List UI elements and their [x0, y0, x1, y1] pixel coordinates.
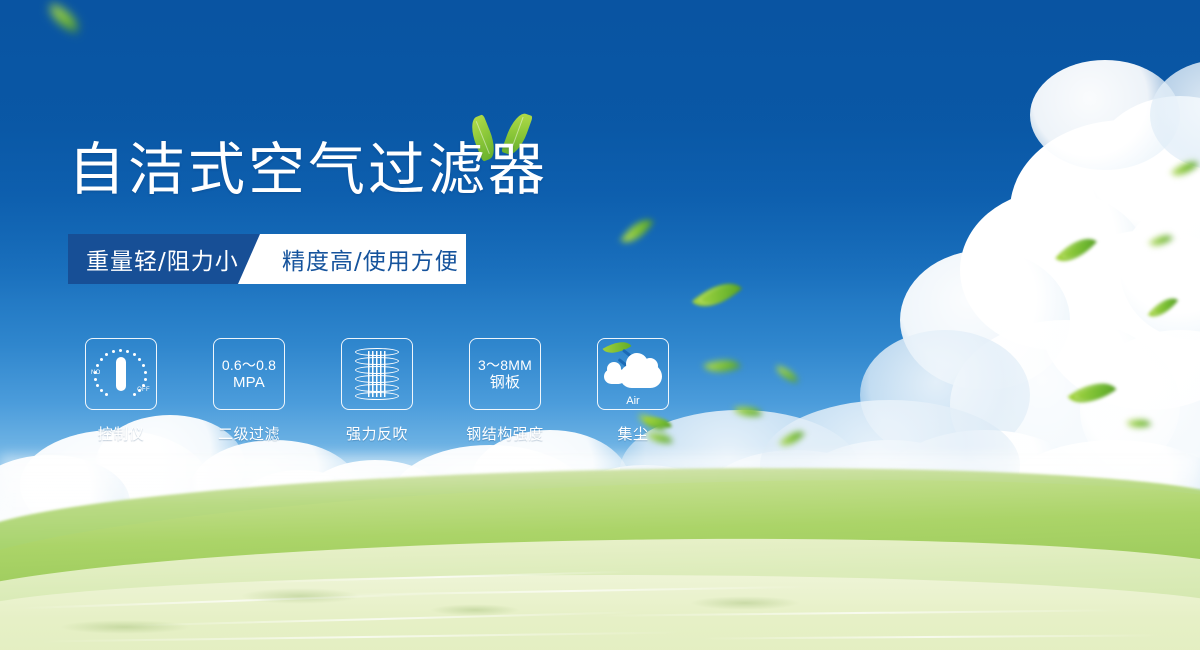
- filter-stack-icon: [355, 348, 399, 400]
- air-caption: Air: [604, 395, 662, 407]
- feature-label: 集尘: [617, 423, 648, 444]
- feature-box: NO OFF: [85, 338, 157, 410]
- feature-item-steel[interactable]: 3～8MM 钢板 钢结构强度: [469, 338, 541, 410]
- gauge-label-off: OFF: [137, 387, 150, 393]
- feature-box: 0.6～0.8 MPA: [213, 338, 285, 410]
- feature-box: [341, 338, 413, 410]
- feature-line1: 3～8MM: [478, 357, 532, 373]
- feature-line1: 0.6～0.8: [222, 357, 276, 373]
- pressure-text-icon: 0.6～0.8 MPA: [222, 357, 276, 391]
- feature-label: 控制仪: [98, 423, 145, 444]
- feature-label: 钢结构强度: [466, 423, 544, 444]
- product-banner: 自洁式空气过滤器 重量轻/阻力小 精度高/使用方便: [0, 0, 1200, 650]
- subtitle-right-panel: 精度高/使用方便: [238, 234, 466, 284]
- feature-label: 强力反吹: [346, 423, 408, 444]
- feature-box: Air: [597, 338, 669, 410]
- subtitle-right-text: 精度高/使用方便: [282, 242, 459, 276]
- gauge-icon: NO OFF: [93, 349, 149, 399]
- subtitle-bar: 重量轻/阻力小 精度高/使用方便: [68, 234, 466, 284]
- subtitle-left-text: 重量轻/阻力小: [86, 242, 239, 276]
- feature-item-backblow[interactable]: 强力反吹: [341, 338, 413, 410]
- page-title: 自洁式空气过滤器: [68, 142, 548, 199]
- feature-label: 二级过滤: [218, 423, 280, 444]
- feature-line2: 钢板: [478, 374, 532, 391]
- feature-item-dust[interactable]: Air 集尘: [597, 338, 669, 410]
- feature-item-filtration[interactable]: 0.6～0.8 MPA 二级过滤: [213, 338, 285, 410]
- air-cloud-icon: Air: [604, 352, 662, 396]
- feature-item-control[interactable]: NO OFF 控制仪: [85, 338, 157, 410]
- gauge-label-no: NO: [91, 370, 101, 376]
- steel-plate-text-icon: 3～8MM 钢板: [478, 357, 532, 391]
- feature-box: 3～8MM 钢板: [469, 338, 541, 410]
- feature-line2: MPA: [222, 374, 276, 391]
